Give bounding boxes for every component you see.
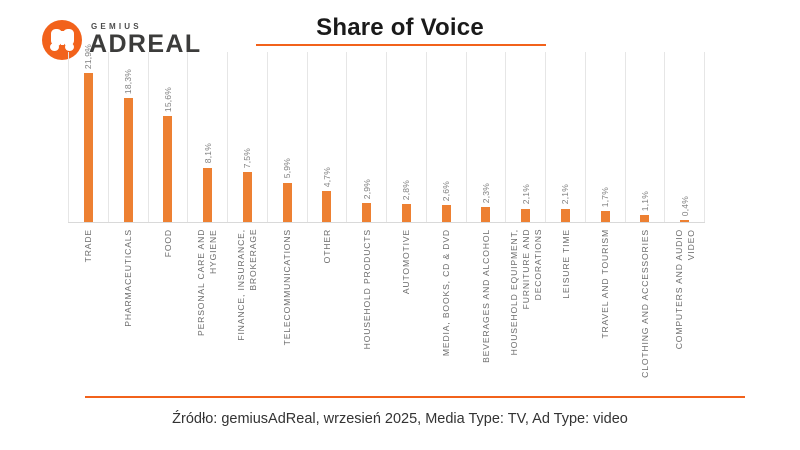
bar-column: 2,1% xyxy=(506,52,546,223)
bar-column: 4,7% xyxy=(308,52,348,223)
bar xyxy=(243,172,252,223)
footer-rule xyxy=(85,396,745,398)
chart-category-axis-labels: TRADEPHARMACEUTICALSFOODPERSONAL CARE AN… xyxy=(68,226,705,384)
category-label: HOUSEHOLD PRODUCTS xyxy=(347,226,387,384)
category-label: BEVERAGES AND ALCOHOL xyxy=(466,226,506,384)
category-label: FOOD xyxy=(148,226,188,384)
bar-column: 2,9% xyxy=(347,52,387,223)
bar-column: 5,9% xyxy=(268,52,308,223)
bar xyxy=(561,209,570,223)
page-title: Share of Voice xyxy=(0,14,800,42)
bar-column: 2,3% xyxy=(467,52,507,223)
bar xyxy=(521,209,530,223)
category-label: AUTOMOTIVE xyxy=(387,226,427,384)
bar-value-label: 4,7% xyxy=(322,167,332,187)
bar-value-label: 2,6% xyxy=(441,181,451,201)
category-label: OTHER xyxy=(307,226,347,384)
bar-column: 21,9% xyxy=(68,52,109,223)
bar-column: 7,5% xyxy=(228,52,268,223)
bar xyxy=(322,191,331,223)
bar-value-label: 5,9% xyxy=(282,158,292,178)
bar-column: 1,1% xyxy=(626,52,666,223)
category-label: TRADE xyxy=(68,226,108,384)
bar-value-label: 0,4% xyxy=(680,196,690,216)
bar-column: 1,7% xyxy=(586,52,626,223)
bar xyxy=(84,73,93,223)
bar xyxy=(283,183,292,223)
bar-column: 0,4% xyxy=(665,52,705,223)
bar-column: 8,1% xyxy=(188,52,228,223)
bar-column: 2,6% xyxy=(427,52,467,223)
bar-value-label: 1,1% xyxy=(640,191,650,211)
category-label: LEISURE TIME xyxy=(546,226,586,384)
category-label: PERSONAL CARE AND HYGIENE xyxy=(187,226,227,384)
category-label: TELECOMMUNICATIONS xyxy=(267,226,307,384)
bar-value-label: 2,1% xyxy=(560,184,570,204)
category-label: PHARMACEUTICALS xyxy=(108,226,148,384)
bar xyxy=(124,98,133,223)
bar xyxy=(442,205,451,223)
category-label: COMPUTERS AND AUDIO VIDEO xyxy=(665,226,705,384)
bar xyxy=(203,168,212,223)
category-label: HOUSEHOLD EQUIPMENT, FURNITURE AND DECOR… xyxy=(506,226,546,384)
bar xyxy=(402,204,411,223)
bar-value-label: 1,7% xyxy=(600,187,610,207)
source-note: Źródło: gemiusAdReal, wrzesień 2025, Med… xyxy=(0,411,800,427)
bar-value-label: 2,8% xyxy=(401,180,411,200)
bar-column: 15,6% xyxy=(149,52,189,223)
category-label: MEDIA, BOOKS, CD & DVD xyxy=(426,226,466,384)
chart-plot-area: 21,9%18,3%15,6%8,1%7,5%5,9%4,7%2,9%2,8%2… xyxy=(68,52,705,223)
category-label: TRAVEL AND TOURISM xyxy=(586,226,626,384)
bar-column: 2,1% xyxy=(546,52,586,223)
bar-value-label: 7,5% xyxy=(242,148,252,168)
bar-value-label: 8,1% xyxy=(203,143,213,163)
bar-value-label: 18,3% xyxy=(123,69,133,94)
bar-column: 2,8% xyxy=(387,52,427,223)
bar xyxy=(163,116,172,223)
category-label: FINANCE, INSURANCE, BROKERAGE xyxy=(227,226,267,384)
bar xyxy=(481,207,490,223)
share-of-voice-bar-chart: 21,9%18,3%15,6%8,1%7,5%5,9%4,7%2,9%2,8%2… xyxy=(68,52,705,384)
chart-baseline-axis xyxy=(68,222,705,223)
bar-value-label: 2,1% xyxy=(521,184,531,204)
bar-value-label: 2,3% xyxy=(481,183,491,203)
bar-column: 18,3% xyxy=(109,52,149,223)
bar-value-label: 21,9% xyxy=(83,44,93,69)
title-underline-rule xyxy=(256,44,546,46)
bar-value-label: 15,6% xyxy=(163,87,173,112)
category-label: CLOTHING AND ACCESSORIES xyxy=(625,226,665,384)
bar-value-label: 2,9% xyxy=(362,179,372,199)
bar xyxy=(362,203,371,223)
